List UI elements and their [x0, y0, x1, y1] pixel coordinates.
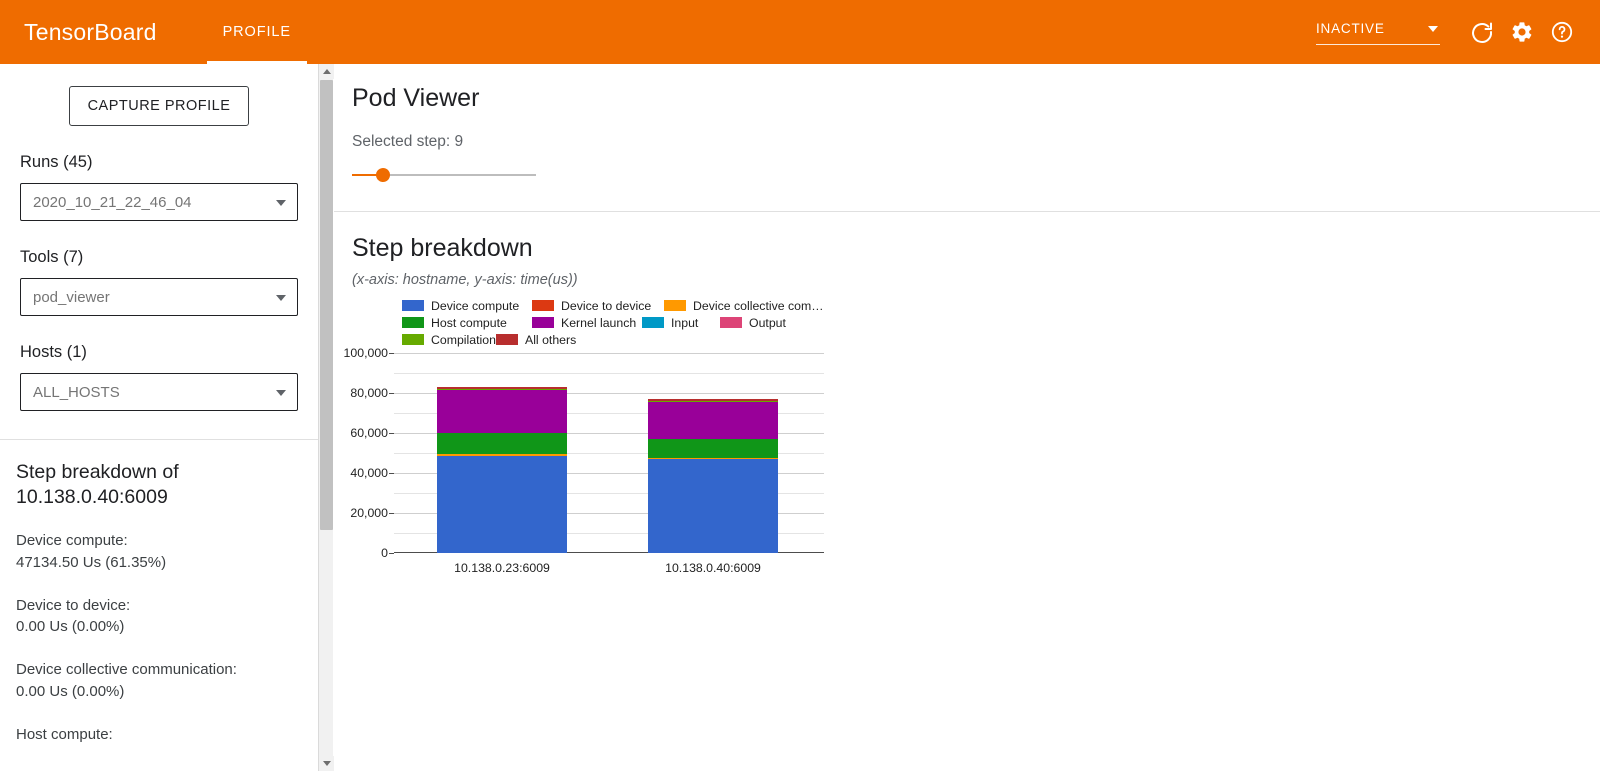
gridline-minor — [394, 373, 824, 374]
bar-stack[interactable] — [648, 399, 778, 553]
legend-label: Compilation — [431, 333, 496, 347]
y-axis-tick-mark — [389, 433, 394, 434]
legend-swatch — [642, 317, 664, 328]
sidebar-scrollbar-thumb[interactable] — [320, 80, 333, 530]
detail-value: 47134.50 Us (61.35%) — [16, 552, 302, 574]
reload-button[interactable] — [1462, 12, 1502, 52]
capture-profile-row: CAPTURE PROFILE — [0, 64, 318, 126]
gear-icon — [1510, 20, 1534, 44]
detail-item: Device collective communication: 0.00 Us… — [16, 659, 302, 703]
legend-swatch — [402, 300, 424, 311]
y-axis-tick-mark — [389, 393, 394, 394]
header-actions: INACTIVE — [1316, 12, 1582, 52]
chart-title: Step breakdown — [352, 234, 1600, 263]
tab-profile-label: PROFILE — [223, 24, 291, 40]
runs-field: Runs (45) 2020_10_21_22_46_04 — [0, 153, 318, 221]
runs-value: 2020_10_21_22_46_04 — [33, 194, 192, 211]
bar-stack[interactable] — [437, 387, 567, 553]
legend-label: Device compute — [431, 299, 519, 313]
legend-swatch — [402, 317, 424, 328]
y-axis-tick-label: 0 — [381, 546, 388, 560]
legend-item[interactable]: Compilation — [402, 333, 496, 347]
legend-item[interactable]: Device collective com… — [664, 299, 824, 313]
app-header: TensorBoard PROFILE INACTIVE — [0, 0, 1600, 64]
y-axis-tick-mark — [389, 513, 394, 514]
sidebar-scrollbar[interactable] — [318, 64, 333, 771]
legend-item[interactable]: Kernel launch — [532, 316, 636, 330]
legend-row: Host computeKernel launchInputOutput — [402, 315, 842, 330]
legend-row: CompilationAll others — [402, 332, 842, 347]
bar-segment[interactable] — [437, 433, 567, 454]
chevron-down-icon — [276, 390, 286, 396]
bar-segment[interactable] — [437, 456, 567, 553]
legend-row: Device computeDevice to deviceDevice col… — [402, 298, 842, 313]
legend-swatch — [664, 300, 686, 311]
legend-item[interactable]: Device compute — [402, 299, 519, 313]
x-axis-tick-label: 10.138.0.40:6009 — [665, 561, 761, 575]
page-title: Pod Viewer — [352, 84, 1600, 113]
scroll-down-arrow-icon[interactable] — [319, 756, 334, 771]
detail-key: Device compute: — [16, 530, 302, 552]
y-axis-tick-label: 80,000 — [350, 386, 388, 400]
step-breakdown-title: Step breakdown of 10.138.0.40:6009 — [16, 460, 302, 509]
runs-select[interactable]: 2020_10_21_22_46_04 — [20, 183, 298, 221]
y-axis-tick-label: 40,000 — [350, 466, 388, 480]
hosts-label: Hosts (1) — [20, 343, 298, 362]
legend-swatch — [532, 317, 554, 328]
tools-select[interactable]: pod_viewer — [20, 278, 298, 316]
step-breakdown-chart: Device computeDevice to deviceDevice col… — [352, 298, 872, 598]
scroll-up-arrow-icon[interactable] — [319, 64, 334, 79]
tools-field: Tools (7) pod_viewer — [0, 248, 318, 316]
step-breakdown-panel: Step breakdown of 10.138.0.40:6009 Devic… — [0, 460, 318, 745]
y-axis-tick-label: 60,000 — [350, 426, 388, 440]
tab-profile[interactable]: PROFILE — [207, 0, 307, 64]
hosts-field: Hosts (1) ALL_HOSTS — [0, 343, 318, 411]
y-axis-tick-label: 20,000 — [350, 506, 388, 520]
detail-item: Device to device: 0.00 Us (0.00%) — [16, 595, 302, 639]
chevron-down-icon — [276, 295, 286, 301]
reload-icon — [1470, 20, 1494, 44]
gridline-major — [394, 353, 824, 354]
chart-plot-area: 020,00040,00060,00080,000100,00010.138.0… — [394, 353, 824, 553]
hosts-value: ALL_HOSTS — [33, 384, 120, 401]
legend-label: All others — [525, 333, 576, 347]
legend-label: Host compute — [431, 316, 507, 330]
chart-legend: Device computeDevice to deviceDevice col… — [402, 298, 842, 349]
detail-key-truncated: Host compute: — [16, 724, 302, 746]
run-status-select[interactable]: INACTIVE — [1316, 20, 1440, 45]
legend-swatch — [720, 317, 742, 328]
legend-label: Input — [671, 316, 698, 330]
y-axis-tick-label: 100,000 — [344, 346, 388, 360]
selected-step-label: Selected step: 9 — [352, 133, 1600, 151]
help-button[interactable] — [1542, 12, 1582, 52]
slider-handle[interactable] — [376, 168, 390, 182]
sidebar-divider — [0, 439, 318, 440]
chevron-down-icon — [276, 200, 286, 206]
run-status-value: INACTIVE — [1316, 21, 1385, 36]
detail-item: Device compute: 47134.50 Us (61.35%) — [16, 530, 302, 574]
legend-swatch — [532, 300, 554, 311]
legend-label: Device collective com… — [693, 299, 824, 313]
settings-button[interactable] — [1502, 12, 1542, 52]
y-axis-tick-mark — [389, 553, 394, 554]
tools-label: Tools (7) — [20, 248, 298, 267]
detail-value: 0.00 Us (0.00%) — [16, 616, 302, 638]
legend-item[interactable]: Host compute — [402, 316, 507, 330]
legend-label: Device to device — [561, 299, 651, 313]
y-axis-tick-mark — [389, 473, 394, 474]
main-divider — [334, 211, 1600, 212]
bar-segment[interactable] — [648, 459, 778, 553]
x-axis-tick-label: 10.138.0.23:6009 — [454, 561, 550, 575]
tools-value: pod_viewer — [33, 289, 110, 306]
hosts-select[interactable]: ALL_HOSTS — [20, 373, 298, 411]
sidebar: CAPTURE PROFILE Runs (45) 2020_10_21_22_… — [0, 64, 318, 771]
chart-subtitle: (x-axis: hostname, y-axis: time(us)) — [352, 272, 1600, 288]
legend-item[interactable]: All others — [496, 333, 576, 347]
help-icon — [1550, 20, 1574, 44]
capture-profile-button[interactable]: CAPTURE PROFILE — [69, 86, 250, 126]
legend-swatch — [496, 334, 518, 345]
y-axis-tick-mark — [389, 353, 394, 354]
step-slider[interactable] — [352, 165, 542, 185]
bar-segment[interactable] — [648, 402, 778, 439]
legend-item[interactable]: Input — [642, 316, 698, 330]
chevron-down-icon — [1428, 26, 1438, 32]
legend-label: Output — [749, 316, 786, 330]
legend-label: Kernel launch — [561, 316, 636, 330]
runs-label: Runs (45) — [20, 153, 298, 172]
main-content: Pod Viewer Selected step: 9 Step breakdo… — [334, 64, 1600, 771]
legend-item[interactable]: Device to device — [532, 299, 651, 313]
detail-value: 0.00 Us (0.00%) — [16, 681, 302, 703]
nav-tabs: PROFILE — [207, 0, 307, 64]
detail-key: Device collective communication: — [16, 659, 302, 681]
bar-segment[interactable] — [648, 439, 778, 458]
app-brand: TensorBoard — [24, 19, 157, 46]
detail-key: Device to device: — [16, 595, 302, 617]
legend-item[interactable]: Output — [720, 316, 786, 330]
bar-segment[interactable] — [437, 390, 567, 433]
legend-swatch — [402, 334, 424, 345]
